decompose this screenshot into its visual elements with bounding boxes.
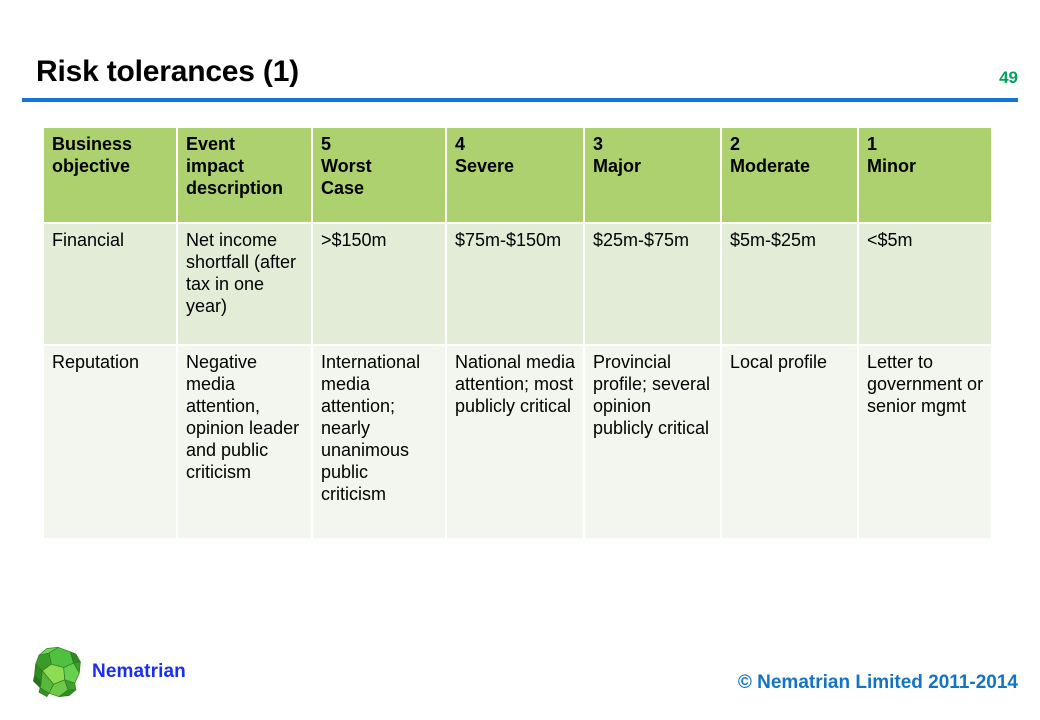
cell-level-1: <$5m: [859, 224, 991, 346]
column-header-level-3: 3 Major: [585, 128, 722, 224]
cell-objective: Reputation: [44, 346, 178, 540]
table-header-row: Business objective Event impact descript…: [44, 128, 991, 224]
header-line-1: 1: [867, 134, 984, 156]
nematrian-polyhedron-logo: [30, 644, 86, 700]
brand-name: Nematrian: [92, 661, 186, 683]
cell-level-1: Letter to government or senior mgmt: [859, 346, 991, 540]
cell-description: Negative media attention, opinion leader…: [178, 346, 313, 540]
slide-header: Risk tolerances (1) 49: [0, 0, 1040, 110]
cell-description: Net income shortfall (after tax in one y…: [178, 224, 313, 346]
cell-level-5: >$150m: [313, 224, 447, 346]
column-header-level-4: 4 Severe: [447, 128, 585, 224]
column-header-level-1: 1 Minor: [859, 128, 991, 224]
header-line-1: 2: [730, 134, 850, 156]
cell-level-4: $75m-$150m: [447, 224, 585, 346]
table-row: Financial Net income shortfall (after ta…: [44, 224, 991, 346]
page-title: Risk tolerances (1): [36, 55, 299, 89]
header-line-1: Event: [186, 134, 304, 156]
header-line-2: Major: [593, 156, 713, 178]
header-line-1: 3: [593, 134, 713, 156]
cell-level-2: $5m-$25m: [722, 224, 859, 346]
cell-objective: Financial: [44, 224, 178, 346]
cell-level-3: Provincial profile; several opinion publ…: [585, 346, 722, 540]
risk-tolerance-table: Business objective Event impact descript…: [44, 128, 991, 540]
header-line-1: Business: [52, 134, 169, 156]
cell-level-4: National media attention; most publicly …: [447, 346, 585, 540]
header-line-2: objective: [52, 156, 169, 178]
table-row: Reputation Negative media attention, opi…: [44, 346, 991, 540]
header-line-2: Severe: [455, 156, 576, 178]
column-header-business-objective: Business objective: [44, 128, 178, 224]
page-number: 49: [999, 68, 1018, 88]
cell-level-2: Local profile: [722, 346, 859, 540]
slide-footer: Nematrian © Nematrian Limited 2011-2014: [0, 630, 1040, 720]
header-line-3: description: [186, 178, 304, 200]
header-line-2: impact: [186, 156, 304, 178]
header-line-2: Worst: [321, 156, 438, 178]
copyright-notice: © Nematrian Limited 2011-2014: [738, 672, 1018, 694]
header-line-3: Case: [321, 178, 438, 200]
brand-logo-group: Nematrian: [30, 644, 186, 700]
column-header-event-impact-description: Event impact description: [178, 128, 313, 224]
header-line-1: 4: [455, 134, 576, 156]
column-header-level-5: 5 Worst Case: [313, 128, 447, 224]
title-divider: [22, 98, 1018, 102]
column-header-level-2: 2 Moderate: [722, 128, 859, 224]
header-line-2: Minor: [867, 156, 984, 178]
header-line-1: 5: [321, 134, 438, 156]
header-line-2: Moderate: [730, 156, 850, 178]
cell-level-5: International media attention; nearly un…: [313, 346, 447, 540]
cell-level-3: $25m-$75m: [585, 224, 722, 346]
